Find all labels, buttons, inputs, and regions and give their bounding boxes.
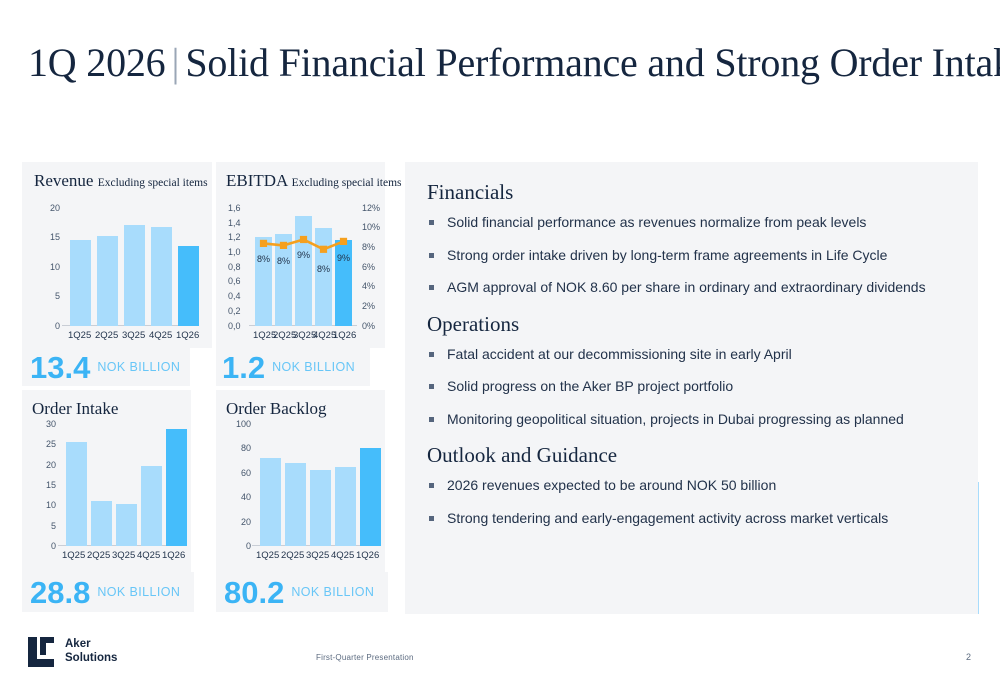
kpi-ebitda: 1.2 NOK BILLION [216, 348, 370, 386]
title-headline: Solid Financial Performance and Strong O… [185, 40, 1000, 85]
list-item: Fatal accident at our decommissioning si… [427, 346, 960, 364]
revenue-ytick-15: 15 [50, 232, 60, 242]
ebitda-xlabel-1q26: 1Q26 [333, 330, 356, 341]
kpi-order-backlog: 80.2 NOK BILLION [216, 572, 388, 612]
order-backlog-xlabel-4q25: 4Q25 [331, 550, 354, 561]
kpi-order-intake-value: 28.8 [30, 577, 90, 608]
revenue-ytick-0: 0 [55, 321, 60, 331]
order-intake-ytick-5: 5 [51, 521, 56, 531]
card-order-backlog-title-text: Order Backlog [226, 399, 327, 418]
card-ebitda-title: EBITDA Excluding special items [226, 171, 402, 191]
revenue-xlabel-1q25: 1Q25 [68, 330, 91, 341]
revenue-plot [66, 208, 198, 326]
ebitda-margin-label-3q25: 9% [297, 250, 310, 260]
order-intake-bar-4q25 [141, 466, 162, 546]
section-outlook-heading: Outlook and Guidance [427, 443, 960, 468]
aker-logo-line1: Aker [65, 638, 91, 650]
card-revenue-title: Revenue Excluding special items [34, 171, 208, 191]
ebitda-ytick-10: 1,0 [228, 247, 241, 257]
order-backlog-xlabel-2q25: 2Q25 [281, 550, 304, 561]
list-item: Strong order intake driven by long-term … [427, 247, 960, 265]
card-order-backlog-title: Order Backlog [226, 399, 327, 419]
revenue-bar-1q25 [70, 240, 91, 326]
page-title: 1Q 2026|Solid Financial Performance and … [28, 40, 1000, 86]
card-order-intake-title-text: Order Intake [32, 399, 118, 418]
order-intake-plot [62, 424, 186, 546]
ebitda-y2tick-10: 10% [362, 222, 380, 232]
kpi-ebitda-value: 1.2 [222, 352, 265, 383]
revenue-xlabel-2q25: 2Q25 [95, 330, 118, 341]
aker-logo-line2: Solutions [65, 652, 117, 664]
ebitda-margin-label-2q25: 8% [277, 256, 290, 266]
revenue-bar-4q25 [151, 227, 172, 326]
order-intake-ytick-30: 30 [46, 419, 56, 429]
section-outlook-bullets: 2026 revenues expected to be around NOK … [427, 477, 960, 527]
kpi-order-intake-unit: NOK BILLION [97, 585, 180, 599]
section-operations: Operations Fatal accident at our decommi… [427, 312, 960, 429]
revenue-ytick-10: 10 [50, 262, 60, 272]
order-backlog-bar-3q25 [310, 470, 331, 546]
kpi-revenue-unit: NOK BILLION [97, 360, 180, 374]
revenue-bar-3q25 [124, 225, 145, 326]
ebitda-ytick-12: 1,2 [228, 232, 241, 242]
order-backlog-ytick-40: 40 [241, 492, 251, 502]
title-separator: | [166, 40, 186, 85]
order-backlog-bar-2q25 [285, 463, 306, 546]
ebitda-ytick-00: 0,0 [228, 321, 241, 331]
aker-logo-icon [28, 637, 56, 667]
order-backlog-ytick-100: 100 [236, 419, 251, 429]
card-ebitda-title-text: EBITDA [226, 171, 287, 190]
ebitda-margin-label-1q26: 9% [337, 253, 350, 263]
list-item: 2026 revenues expected to be around NOK … [427, 477, 960, 495]
ebitda-y2tick-4: 4% [362, 281, 375, 291]
ebitda-ytick-02: 0,2 [228, 306, 241, 316]
list-item: AGM approval of NOK 8.60 per share in or… [427, 279, 960, 297]
card-revenue-title-text: Revenue [34, 171, 93, 190]
list-item: Strong tendering and early-engagement ac… [427, 510, 960, 528]
card-ebitda: EBITDA Excluding special items 8% 8% 9% [216, 162, 385, 348]
order-intake-xlabel-1q26: 1Q26 [162, 550, 185, 561]
order-intake-bar-1q25 [66, 442, 87, 547]
ebitda-plot: 8% 8% 9% 8% 9% [252, 208, 356, 326]
revenue-ytick-5: 5 [55, 291, 60, 301]
order-backlog-bar-1q25 [260, 458, 281, 546]
order-intake-ytick-0: 0 [51, 541, 56, 551]
section-operations-heading: Operations [427, 312, 960, 337]
revenue-xlabel-3q25: 3Q25 [122, 330, 145, 341]
revenue-xlabel-4q25: 4Q25 [149, 330, 172, 341]
order-intake-bar-1q26 [166, 429, 187, 546]
list-item: Solid progress on the Aker BP project po… [427, 378, 960, 396]
ebitda-ytick-08: 0,8 [228, 262, 241, 272]
kpi-order-backlog-unit: NOK BILLION [291, 585, 374, 599]
card-order-backlog: Order Backlog 100 80 60 40 20 0 1Q25 2Q2… [216, 390, 385, 572]
ebitda-ytick-06: 0,6 [228, 276, 241, 286]
kpi-revenue: 13.4 NOK BILLION [22, 348, 190, 386]
list-item: Monitoring geopolitical situation, proje… [427, 411, 960, 429]
order-intake-bar-2q25 [91, 501, 112, 546]
ebitda-margin-line [252, 208, 356, 326]
order-intake-xlabel-4q25: 4Q25 [137, 550, 160, 561]
section-outlook: Outlook and Guidance 2026 revenues expec… [427, 443, 960, 527]
order-intake-xlabel-3q25: 3Q25 [112, 550, 135, 561]
order-backlog-ytick-20: 20 [241, 517, 251, 527]
order-backlog-xlabel-3q25: 3Q25 [306, 550, 329, 561]
list-item: Solid financial performance as revenues … [427, 214, 960, 232]
highlights-panel: Financials Solid financial performance a… [405, 162, 978, 614]
ebitda-y2tick-2: 2% [362, 301, 375, 311]
order-intake-ytick-15: 15 [46, 480, 56, 490]
card-ebitda-subtitle: Excluding special items [292, 177, 402, 189]
section-financials-heading: Financials [427, 180, 960, 205]
kpi-order-backlog-value: 80.2 [224, 577, 284, 608]
revenue-bar-2q25 [97, 236, 118, 326]
order-intake-xlabel-2q25: 2Q25 [87, 550, 110, 561]
order-intake-ytick-25: 25 [46, 439, 56, 449]
kpi-ebitda-unit: NOK BILLION [272, 360, 355, 374]
order-intake-bar-3q25 [116, 504, 137, 546]
revenue-xlabel-1q26: 1Q26 [176, 330, 199, 341]
title-quarter: 1Q 2026 [28, 40, 166, 85]
ebitda-margin-label-4q25: 8% [317, 264, 330, 274]
ebitda-ytick-04: 0,4 [228, 291, 241, 301]
page-number: 2 [966, 652, 971, 662]
order-backlog-xlabel-1q26: 1Q26 [356, 550, 379, 561]
order-intake-xlabel-1q25: 1Q25 [62, 550, 85, 561]
order-backlog-xlabel-1q25: 1Q25 [256, 550, 279, 561]
aker-solutions-logo: Aker Solutions [28, 637, 117, 667]
order-intake-ytick-20: 20 [46, 460, 56, 470]
revenue-bar-1q26 [178, 246, 199, 326]
order-backlog-bar-4q25 [335, 467, 356, 546]
kpi-revenue-value: 13.4 [30, 352, 90, 383]
card-order-intake-title: Order Intake [32, 399, 118, 419]
order-backlog-ytick-0: 0 [246, 541, 251, 551]
card-revenue: Revenue Excluding special items 20 15 10… [22, 162, 212, 348]
ebitda-y2tick-0: 0% [362, 321, 375, 331]
ebitda-y2tick-8: 8% [362, 242, 375, 252]
order-backlog-ytick-80: 80 [241, 443, 251, 453]
order-intake-ytick-10: 10 [46, 500, 56, 510]
order-backlog-plot [256, 424, 380, 546]
ebitda-ytick-16: 1,6 [228, 203, 241, 213]
section-operations-bullets: Fatal accident at our decommissioning si… [427, 346, 960, 429]
card-order-intake: Order Intake 30 25 20 15 10 5 0 1Q25 2Q2… [22, 390, 191, 572]
aker-logo-text: Aker Solutions [65, 638, 117, 665]
revenue-ytick-20: 20 [50, 203, 60, 213]
section-financials-bullets: Solid financial performance as revenues … [427, 214, 960, 297]
slide: 1Q 2026|Solid Financial Performance and … [0, 0, 1000, 685]
footer-center-text: First-Quarter Presentation [316, 653, 414, 662]
order-backlog-bar-1q26 [360, 448, 381, 546]
order-backlog-ytick-60: 60 [241, 468, 251, 478]
card-revenue-subtitle: Excluding special items [98, 177, 208, 189]
ebitda-ytick-14: 1,4 [228, 218, 241, 228]
ebitda-y2tick-6: 6% [362, 262, 375, 272]
kpi-order-intake: 28.8 NOK BILLION [22, 572, 194, 612]
ebitda-y2tick-12: 12% [362, 203, 380, 213]
section-financials: Financials Solid financial performance a… [427, 180, 960, 297]
ebitda-margin-label-1q25: 8% [257, 254, 270, 264]
